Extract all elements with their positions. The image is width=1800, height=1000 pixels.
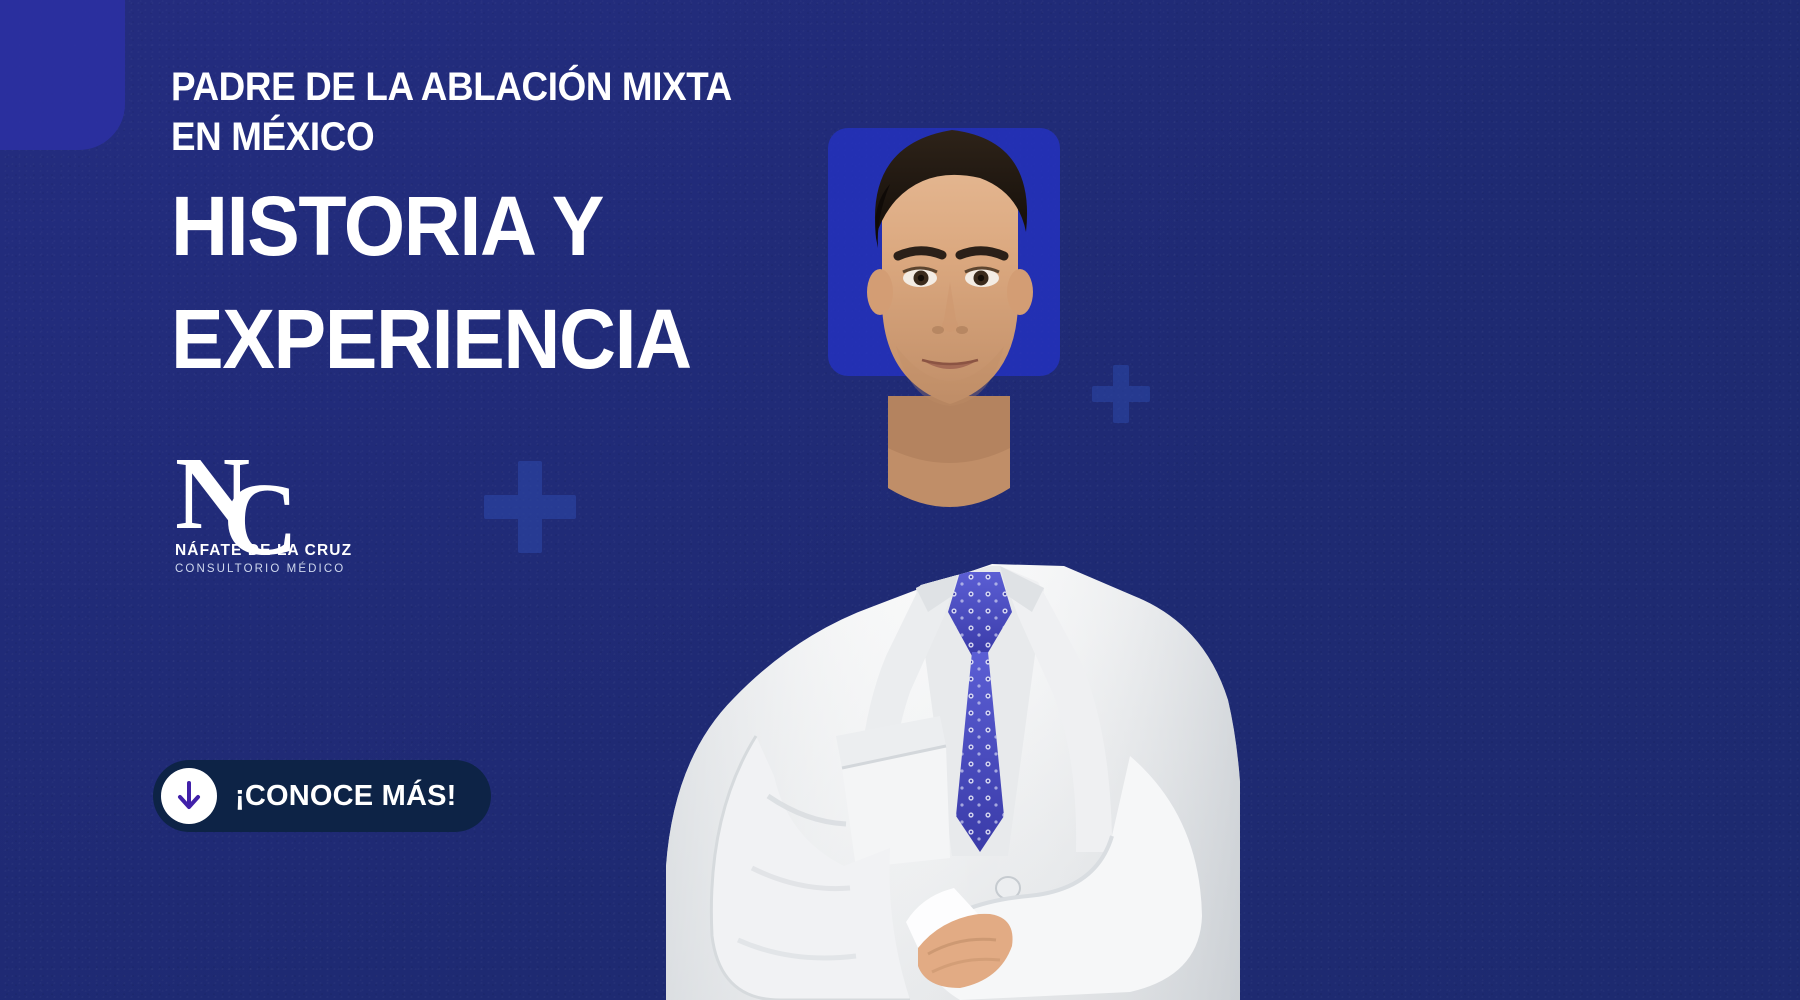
arrow-down-icon: [161, 768, 217, 824]
logo-monogram: N C: [175, 442, 325, 534]
headline-line-2: EXPERIENCIA: [171, 291, 829, 388]
conoce-mas-button[interactable]: ¡CONOCE MÁS!: [153, 760, 491, 832]
brand-logo: N C NÁFATE DE LA CRUZ CONSULTORIO MÉDICO: [175, 442, 405, 575]
corner-tile-decoration: [0, 0, 125, 150]
plus-icon-large: [484, 461, 576, 553]
kicker-line-2: EN MÉXICO: [171, 112, 815, 162]
headline-block: PADRE DE LA ABLACIÓN MIXTA EN MÉXICO HIS…: [171, 62, 871, 388]
conoce-mas-label: ¡CONOCE MÁS!: [235, 780, 457, 813]
hero-banner: PADRE DE LA ABLACIÓN MIXTA EN MÉXICO HIS…: [0, 0, 1800, 1000]
kicker-line-1: PADRE DE LA ABLACIÓN MIXTA: [171, 62, 815, 112]
headline-line-1: HISTORIA Y: [171, 178, 829, 275]
logo-letter-c: C: [223, 468, 298, 572]
